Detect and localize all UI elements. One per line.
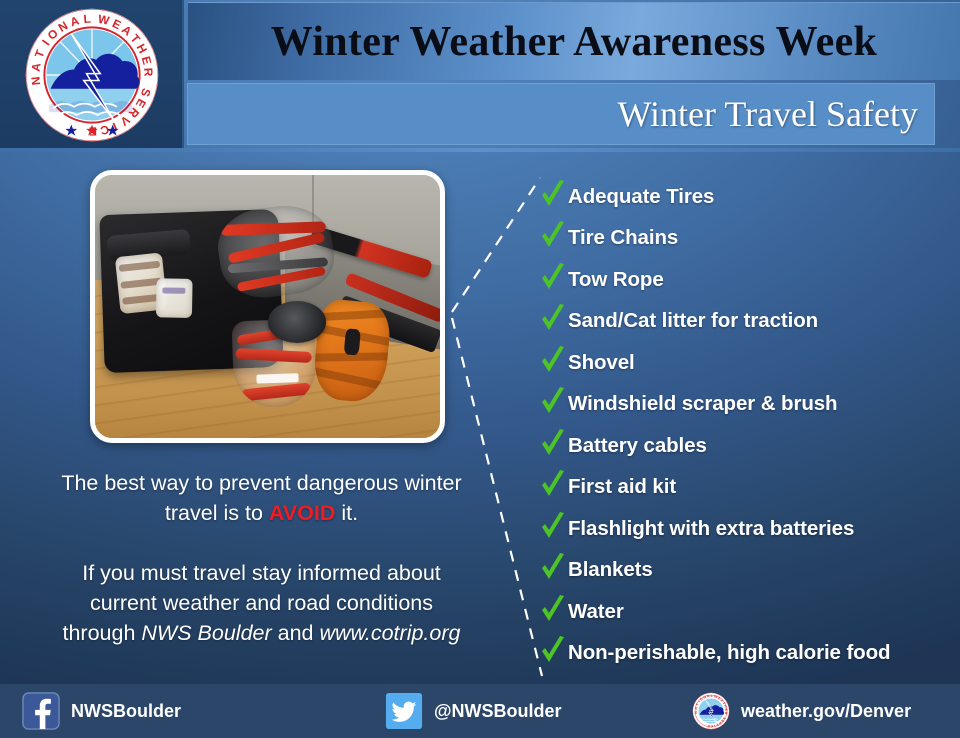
svg-text:L: L <box>83 11 91 26</box>
advice-p2-before: through <box>63 621 142 645</box>
photo-supply-bag-small <box>156 278 193 318</box>
facebook-label: NWSBoulder <box>71 701 181 722</box>
svg-text:A: A <box>29 62 44 73</box>
check-icon <box>540 303 566 335</box>
check-icon <box>540 552 566 584</box>
photo-content <box>95 175 440 438</box>
supply-checklist: Adequate Tires Tire Chains Tow Rope Sand… <box>540 176 960 674</box>
campaign-title: Winter Weather Awareness Week <box>271 21 877 63</box>
check-icon <box>540 179 566 211</box>
website-link[interactable]: N A T I O N A L W E A T H E R S E <box>692 692 911 730</box>
check-icon <box>540 469 566 501</box>
checklist-item: Water <box>540 591 960 633</box>
advice-p1-after: it. <box>335 501 358 525</box>
cotrip-link[interactable]: www.cotrip.org <box>319 621 460 645</box>
nws-seal-icon: N A T I O N A L W E A T H E R S E <box>18 6 166 144</box>
winter-travel-safety-infographic: N A T I O N A L W E A T H E R S E <box>0 0 960 738</box>
checklist-item-label: Non-perishable, high calorie food <box>568 641 890 665</box>
photo-tape-roll <box>268 301 327 343</box>
checklist-item-label: Sand/Cat litter for traction <box>568 309 818 333</box>
campaign-banner: Winter Weather Awareness Week <box>188 2 960 80</box>
twitter-label: @NWSBoulder <box>434 701 562 722</box>
checklist-item-label: Tow Rope <box>568 268 664 292</box>
checklist-item: Battery cables <box>540 425 960 467</box>
avoid-emphasis: AVOID <box>269 501 336 525</box>
checklist-item-label: First aid kit <box>568 475 676 499</box>
check-icon <box>540 386 566 418</box>
checklist-item-label: Flashlight with extra batteries <box>568 517 854 541</box>
emergency-kit-photo <box>90 170 445 443</box>
checklist-item: Tire Chains <box>540 218 960 260</box>
checklist-item: Shovel <box>540 342 960 384</box>
checklist-item: Non-perishable, high calorie food <box>540 633 960 675</box>
twitter-link[interactable]: @NWSBoulder <box>385 692 562 730</box>
header: N A T I O N A L W E A T H E R S E <box>0 0 960 152</box>
advice-paragraph-2-line1: If you must travel stay informed about <box>34 558 489 588</box>
svg-text:N: N <box>28 76 43 86</box>
checklist-item: First aid kit <box>540 467 960 509</box>
check-icon <box>540 635 566 667</box>
pointer-line-upper <box>452 178 540 312</box>
nws-boulder-reference: NWS Boulder <box>141 621 271 645</box>
check-icon <box>540 262 566 294</box>
check-icon <box>540 345 566 377</box>
twitter-icon <box>385 692 423 730</box>
checklist-item: Windshield scraper & brush <box>540 384 960 426</box>
nws-seal-icon: N A T I O N A L W E A T H E R S E <box>692 692 730 730</box>
advice-p2-middle: and <box>272 621 320 645</box>
checklist-item: Tow Rope <box>540 259 960 301</box>
checklist-item: Sand/Cat litter for traction <box>540 301 960 343</box>
advice-paragraph-1: The best way to prevent dangerous winter… <box>34 468 489 528</box>
facebook-link[interactable]: NWSBoulder <box>22 692 181 730</box>
advice-text: The best way to prevent dangerous winter… <box>34 468 489 648</box>
checklist-item: Flashlight with extra batteries <box>540 508 960 550</box>
svg-text:L: L <box>710 694 712 698</box>
check-icon <box>540 511 566 543</box>
paragraph-gap <box>34 528 489 558</box>
logo-panel: N A T I O N A L W E A T H E R S E <box>0 0 184 148</box>
topic-title: Winter Travel Safety <box>618 96 919 132</box>
checklist-item-label: Adequate Tires <box>568 185 714 209</box>
checklist-item-label: Shovel <box>568 351 635 375</box>
website-label: weather.gov/Denver <box>741 701 911 722</box>
checklist-item-label: Battery cables <box>568 434 707 458</box>
checklist-item-label: Blankets <box>568 558 653 582</box>
facebook-icon <box>22 692 60 730</box>
footer-bar: NWSBoulder @NWSBoulder <box>0 684 960 738</box>
advice-paragraph-2-line3: through NWS Boulder and www.cotrip.org <box>34 618 489 648</box>
checklist-item-label: Water <box>568 600 624 624</box>
check-icon <box>540 428 566 460</box>
advice-p1-before: The best way to prevent dangerous winter… <box>61 471 461 525</box>
checklist-item: Adequate Tires <box>540 176 960 218</box>
checklist-item-label: Windshield scraper & brush <box>568 392 837 416</box>
header-divider <box>0 148 960 152</box>
svg-text:R: R <box>141 67 155 77</box>
advice-paragraph-2-line2: current weather and road conditions <box>34 588 489 618</box>
check-icon <box>540 594 566 626</box>
topic-banner: Winter Travel Safety <box>187 83 935 145</box>
checklist-item-label: Tire Chains <box>568 226 678 250</box>
check-icon <box>540 220 566 252</box>
checklist-item: Blankets <box>540 550 960 592</box>
